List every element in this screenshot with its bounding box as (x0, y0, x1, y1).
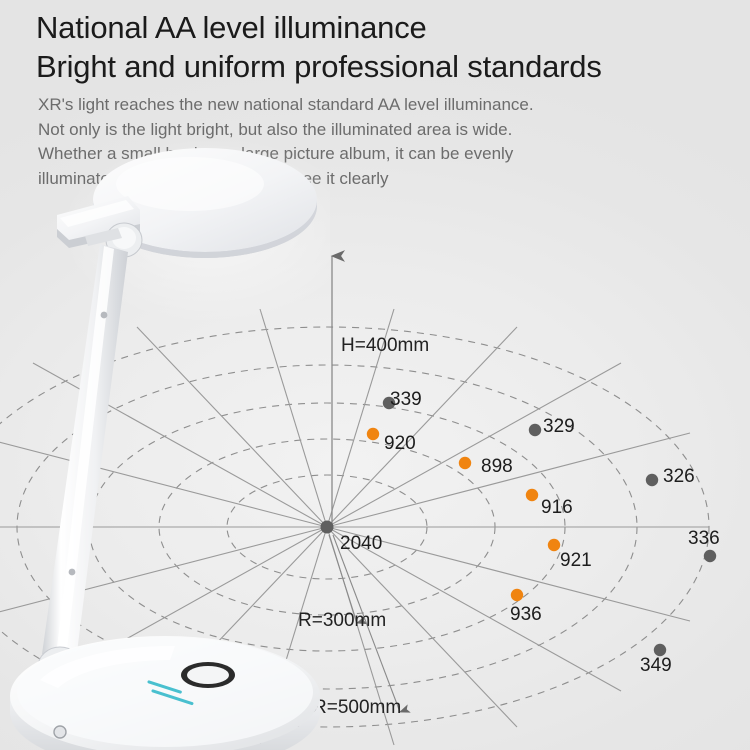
dot-label-936: 936 (510, 604, 542, 626)
dot-label-921: 921 (560, 550, 592, 572)
base-port-icon (54, 726, 66, 738)
dot-936 (511, 589, 523, 601)
dot-336 (704, 550, 716, 562)
height-dimension-label: H=400mm (341, 335, 429, 357)
dot-label-336: 336 (688, 528, 720, 550)
arm-screw-lower (69, 569, 76, 576)
dot-label-898: 898 (481, 456, 513, 478)
lamp-arm (42, 244, 128, 660)
arm-screw-upper (101, 312, 108, 319)
product-illuminance-infographic: National AA level illuminance Bright and… (0, 0, 750, 750)
dot-916 (526, 489, 538, 501)
dot-label-920: 920 (384, 433, 416, 455)
desk-lamp-photo (0, 140, 330, 750)
dot-label-339: 339 (390, 389, 422, 411)
base-touch-button[interactable] (181, 662, 235, 688)
dot-920 (367, 428, 379, 440)
dot-label-326: 326 (663, 466, 695, 488)
dot-921 (548, 539, 560, 551)
dot-label-329: 329 (543, 416, 575, 438)
dot-898 (459, 457, 471, 469)
dot-label-916: 916 (541, 497, 573, 519)
center-value-label: 2040 (340, 533, 382, 555)
dot-label-349: 349 (640, 655, 672, 677)
dot-326 (646, 474, 658, 486)
dot-329 (529, 424, 541, 436)
